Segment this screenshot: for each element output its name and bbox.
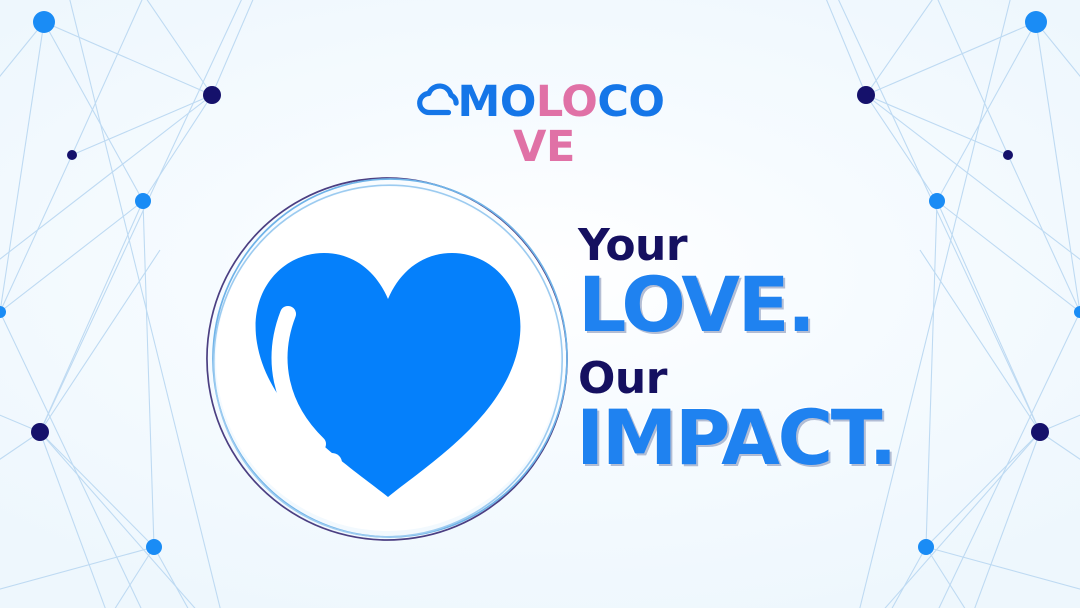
network-node bbox=[146, 539, 162, 555]
brand-text-mo: MO bbox=[458, 81, 536, 124]
heart-badge bbox=[197, 168, 579, 550]
brand-logo-row-primary: MO LO CO bbox=[416, 80, 665, 124]
network-node bbox=[1025, 11, 1047, 33]
brand-text-co: CO bbox=[597, 81, 664, 124]
brand-text-ve: VE bbox=[513, 122, 575, 172]
network-node bbox=[31, 423, 49, 441]
brand-logo: MO LO CO VE bbox=[0, 80, 1080, 169]
network-node bbox=[0, 306, 6, 318]
network-node bbox=[1074, 306, 1080, 318]
headline-block: Your LOVE. Our IMPACT. bbox=[578, 224, 1018, 476]
slide-canvas: MO LO CO VE Your LOVE. Ou bbox=[0, 0, 1080, 608]
cloud-icon bbox=[416, 80, 462, 122]
headline-love: LOVE. bbox=[578, 267, 1018, 343]
brand-text-lo: LO bbox=[536, 81, 597, 124]
heart-shine-dot bbox=[322, 453, 342, 473]
network-node bbox=[929, 193, 945, 209]
brand-logo-row-secondary: VE bbox=[513, 126, 575, 169]
network-node bbox=[33, 11, 55, 33]
headline-impact: IMPACT. bbox=[576, 400, 1018, 476]
network-node bbox=[918, 539, 934, 555]
network-node bbox=[1031, 423, 1049, 441]
network-node bbox=[135, 193, 151, 209]
